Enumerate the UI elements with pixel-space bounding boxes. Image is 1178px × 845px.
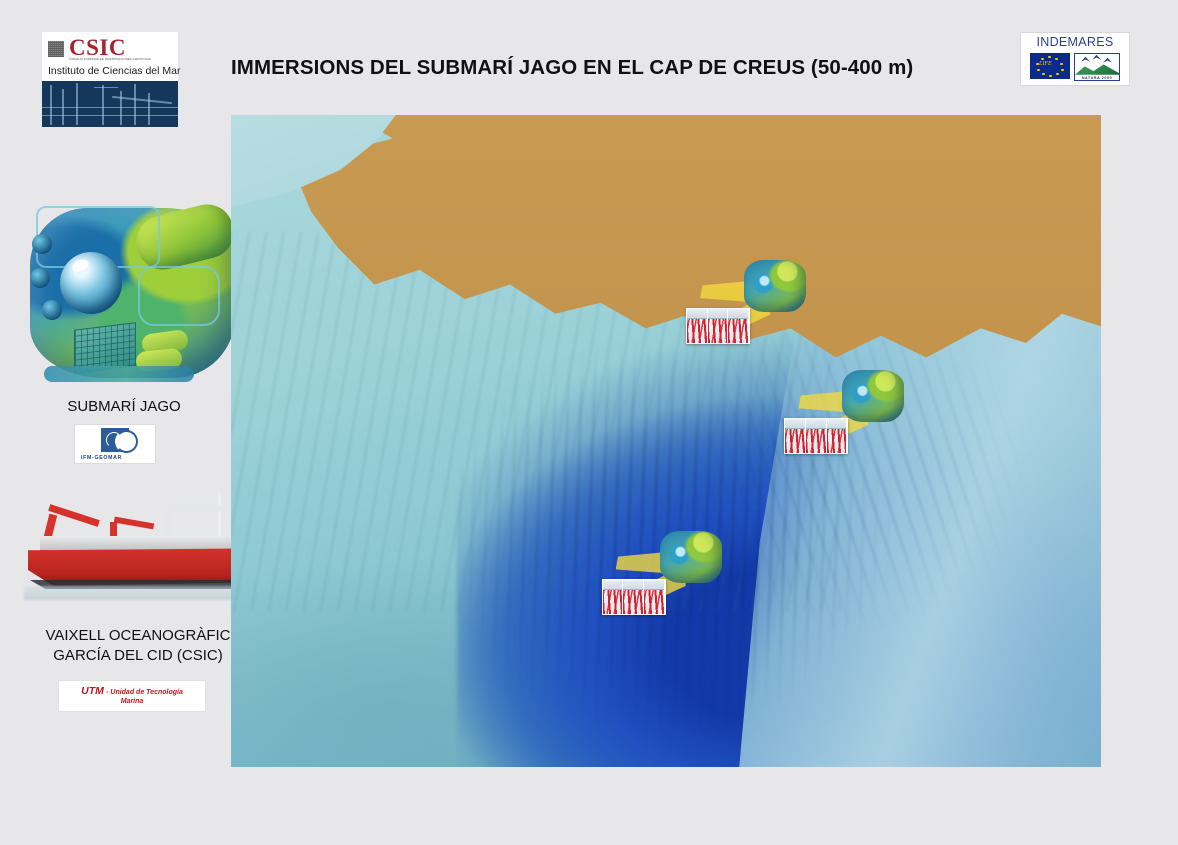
csic-seal-icon <box>48 41 64 57</box>
dive-site-marker[interactable] <box>686 260 806 346</box>
coral-photo-strip <box>784 418 848 454</box>
utm-acronym: UTM <box>81 685 104 697</box>
submersible-icon <box>842 370 904 422</box>
coral-photo-strip <box>602 579 666 615</box>
ifm-geomar-logo: IFM-GEOMAR <box>74 424 156 464</box>
csic-acronym: CSIC <box>69 36 151 59</box>
csic-building-graphic <box>42 81 178 127</box>
csic-logo-header: CSIC CONSEJO SUPERIOR DE INVESTIGACIONES… <box>42 32 178 65</box>
poster-canvas: CSIC CONSEJO SUPERIOR DE INVESTIGACIONES… <box>0 0 1178 845</box>
page-title: IMMERSIONS DEL SUBMARÍ JAGO EN EL CAP DE… <box>231 56 1101 80</box>
geomar-name: IFM-GEOMAR <box>79 455 151 461</box>
natura-label: NATURA 2000 <box>1075 76 1119 80</box>
dive-site-marker[interactable] <box>784 370 904 456</box>
eu-life-label: LIFE <box>1039 61 1052 67</box>
bathymetry-map <box>231 115 1101 767</box>
csic-logo: CSIC CONSEJO SUPERIOR DE INVESTIGACIONES… <box>42 32 178 127</box>
indemares-name: INDEMARES <box>1025 36 1125 50</box>
utm-line1: - Unidad de Tecnología <box>106 689 183 696</box>
submersible-icon <box>660 531 722 583</box>
jago-submersible-photo <box>18 190 248 390</box>
coral-photo-strip <box>686 308 750 344</box>
geomar-wave-icon <box>101 428 129 452</box>
indemares-logo: INDEMARES LIFE NATURA 2 <box>1020 32 1130 86</box>
natura-2000-icon: NATURA 2000 <box>1074 53 1120 81</box>
submersible-icon <box>744 260 806 312</box>
utm-logo: UTM - Unidad de Tecnología Marina <box>58 680 206 712</box>
dive-site-marker[interactable] <box>602 531 722 617</box>
utm-line2: Marina <box>62 697 202 706</box>
submarine-caption: SUBMARÍ JAGO <box>0 398 248 415</box>
eu-life-flag-icon: LIFE <box>1030 53 1070 79</box>
csic-institute-name: Instituto de Ciencias del Mar <box>42 65 178 81</box>
csic-full-name: CONSEJO SUPERIOR DE INVESTIGACIONES CIEN… <box>69 59 151 62</box>
